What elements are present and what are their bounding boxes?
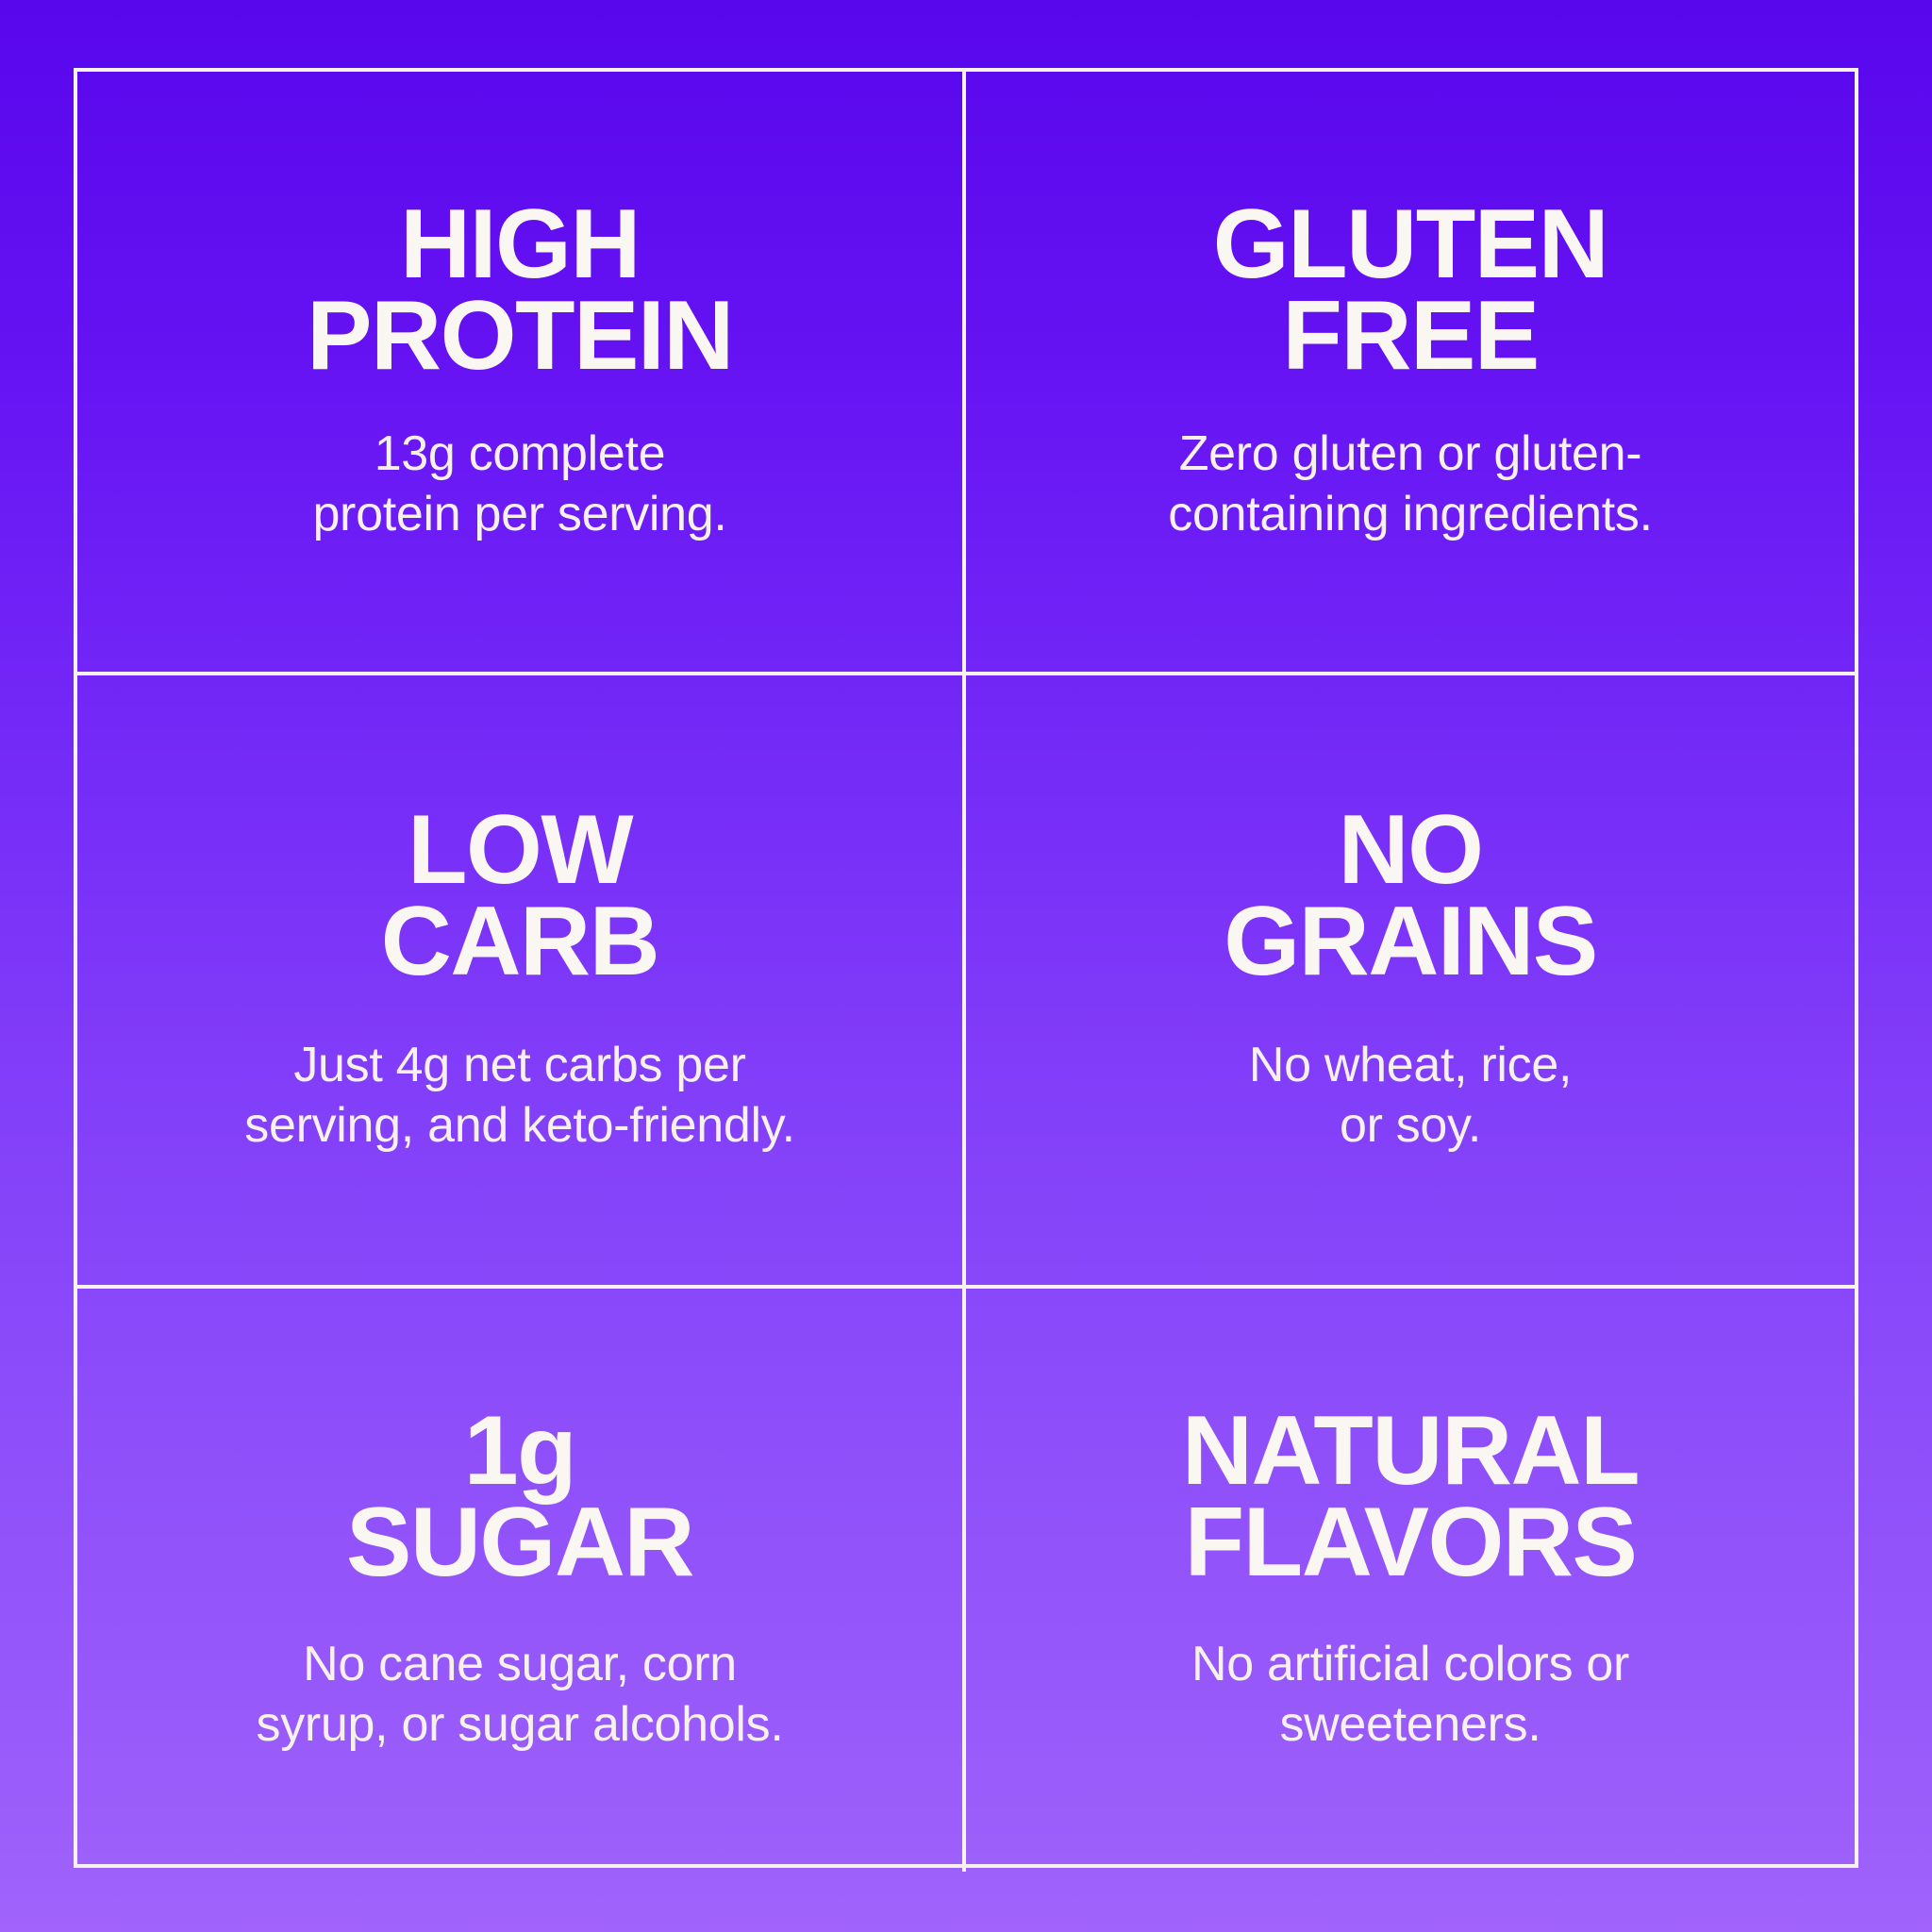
benefit-title: 1g SUGAR (346, 1406, 693, 1588)
benefit-description: 13g complete protein per serving. (312, 425, 726, 544)
benefit-title: NATURAL FLAVORS (1182, 1406, 1639, 1588)
benefit-card-natural-flavors: NATURAL FLAVORS No artificial colors or … (966, 1289, 1855, 1872)
benefit-description: Just 4g net carbs per serving, and keto-… (244, 1036, 794, 1156)
benefit-card-no-grains: NO GRAINS No wheat, rice, or soy. (966, 675, 1855, 1289)
benefit-card-high-protein: HIGH PROTEIN 13g complete protein per se… (77, 72, 966, 675)
benefit-description: No cane sugar, corn syrup, or sugar alco… (257, 1635, 784, 1755)
benefit-description: No wheat, rice, or soy. (1249, 1036, 1572, 1156)
benefit-description: No artificial colors or sweeteners. (1191, 1635, 1629, 1755)
benefit-title: HIGH PROTEIN (307, 199, 733, 381)
benefit-card-1g-sugar: 1g SUGAR No cane sugar, corn syrup, or s… (77, 1289, 966, 1872)
benefit-title: GLUTEN FREE (1213, 199, 1608, 381)
benefits-grid: HIGH PROTEIN 13g complete protein per se… (74, 68, 1858, 1868)
benefit-card-low-carb: LOW CARB Just 4g net carbs per serving, … (77, 675, 966, 1289)
benefit-description: Zero gluten or gluten- containing ingred… (1168, 425, 1652, 544)
benefit-card-gluten-free: GLUTEN FREE Zero gluten or gluten- conta… (966, 72, 1855, 675)
benefit-title: NO GRAINS (1224, 805, 1596, 987)
benefit-title: LOW CARB (381, 805, 658, 987)
